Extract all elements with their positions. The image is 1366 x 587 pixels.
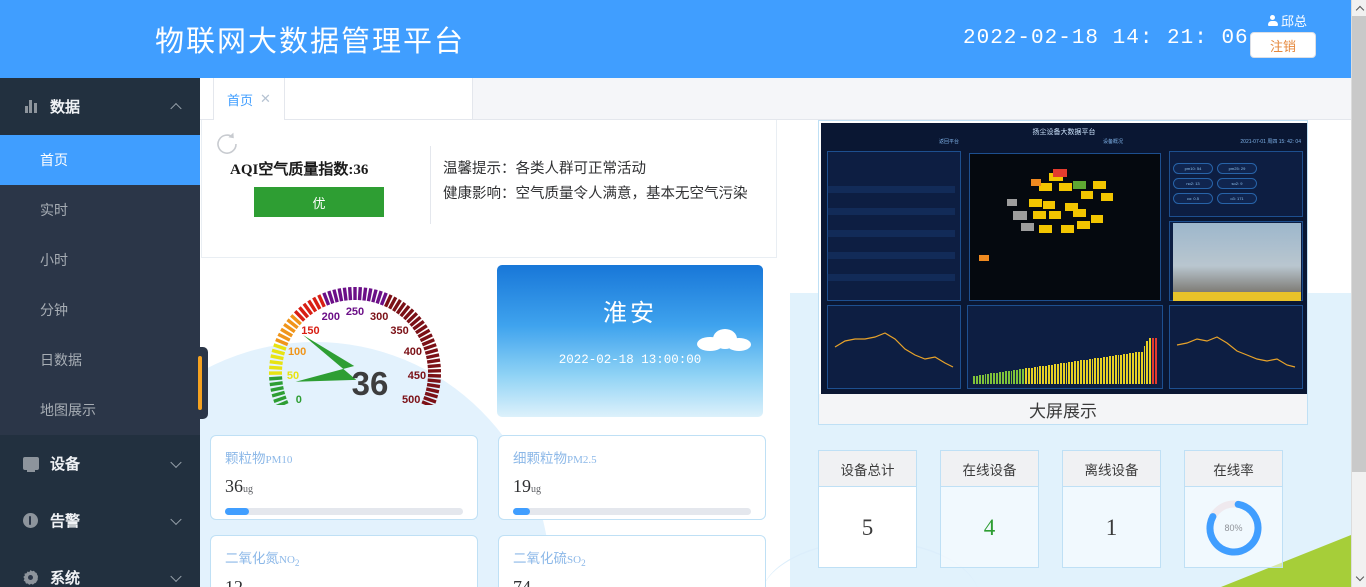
pollutant-name: 颗粒物 [225,451,266,466]
sidebar-group-label: 告警 [50,510,80,531]
pollutant-progress-bar [513,508,751,515]
header-datetime: 2022-02-18 14: 21: 06 [963,27,1249,50]
sidebar-collapse-handle[interactable] [192,347,208,419]
stat-label: 在线率 [1185,451,1282,487]
sidebar-group-label: 设备 [50,453,80,474]
pollutant-name: 二氧化氮 [225,551,279,566]
stat-value: 4 [984,515,996,541]
svg-text:300: 300 [370,311,388,323]
stat-body: 80% [1185,487,1282,568]
sidebar-item-realtime[interactable]: 实时 [0,185,200,235]
pollutant-formula: SO [567,554,581,566]
bigscreen-caption: 大屏展示 [819,394,1307,424]
user-name: 邱总 [1281,11,1307,30]
sidebar: 数据 首页 实时 小时 分钟 日数据 地图展示 设备 告警 系统 [0,78,200,587]
online-rate-donut-chart: 80% [1203,497,1265,559]
sidebar-group-device[interactable]: 设备 [0,435,200,492]
pollutant-formula: PM2.5 [567,454,597,466]
preview-line-chart-right [1173,319,1299,383]
pollutant-card-pm10[interactable]: 颗粒物PM10 36ug [210,435,478,520]
city-weather-card[interactable]: 淮安 2022-02-18 13:00:00 [497,265,763,417]
stat-body: 1 [1063,487,1160,568]
bar-chart-icon [22,100,39,113]
stat-card-online-rate[interactable]: 在线率 80% [1184,450,1283,568]
svg-text:150: 150 [301,325,319,337]
tab-home[interactable]: 首页 ✕ [213,78,285,120]
logout-button[interactable]: 注销 [1250,32,1316,58]
stat-body: 4 [941,487,1038,568]
pollutant-unit: ug [243,484,253,495]
pollutant-label: 颗粒物PM10 [225,447,463,467]
gear-icon [22,570,39,585]
sidebar-group-alarm[interactable]: 告警 [0,492,200,549]
pollutant-subscript: 2 [581,558,586,568]
bigscreen-panel[interactable]: 扬尘设备大数据平台 返回平台 设备概况 2021-07-01 周四 15: 42… [818,120,1308,425]
sidebar-group-label: 数据 [50,96,80,117]
pollutant-label: 二氧化氮NO2 [225,547,463,568]
divider [430,146,431,224]
pollutant-value: 36 [225,476,243,496]
left-column: AQI空气质量指数:36 优 温馨提示：各类人群可正常活动 健康影响：空气质量令… [200,120,778,587]
pollutant-value-row: 19ug [513,476,751,497]
svg-text:50: 50 [287,370,299,382]
svg-text:100: 100 [288,346,306,358]
preview-line-chart-left [831,319,957,383]
city-timestamp: 2022-02-18 13:00:00 [497,353,763,367]
preview-nav-left: 返回平台 [939,138,959,145]
svg-text:0: 0 [296,394,302,405]
tab-label: 首页 [227,90,253,109]
sidebar-group-data[interactable]: 数据 [0,78,200,135]
gauge-value: 36 [325,365,415,403]
sidebar-item-hourly[interactable]: 小时 [0,235,200,285]
sidebar-item-map[interactable]: 地图展示 [0,385,200,435]
stat-label: 在线设备 [941,451,1038,487]
sidebar-item-daily[interactable]: 日数据 [0,335,200,385]
preview-bar-chart [973,336,1157,384]
pollutant-value-row: 74ug [513,577,751,587]
stat-card-online-devices[interactable]: 在线设备 4 [940,450,1039,568]
pollutant-subscript: 2 [295,558,300,568]
aqi-tip-line: 温馨提示：各类人群可正常活动 [443,157,769,182]
close-icon[interactable]: ✕ [260,91,271,107]
scrollbar-thumb[interactable] [1352,16,1366,472]
pollutant-value: 19 [513,476,531,496]
sidebar-group-label: 系统 [50,567,80,587]
pollutant-card-pm25[interactable]: 细颗粒物PM2.5 19ug [498,435,766,520]
chevron-down-icon [170,570,181,581]
pollutant-formula: PM10 [266,454,293,466]
pollutant-value-row: 12ug [225,577,463,587]
chevron-up-icon [170,102,181,113]
aqi-gauge-chart: 050100150200250300350400450500 36 [230,265,480,405]
scroll-up-arrow-icon[interactable] [1352,0,1366,16]
user-icon [1267,15,1279,27]
pollutant-value: 74 [513,577,531,587]
scroll-down-arrow-icon[interactable] [1352,571,1366,587]
aqi-title: AQI空气质量指数:36 [230,158,368,179]
stat-label: 离线设备 [1063,451,1160,487]
chevron-down-icon [170,513,181,524]
preview-nav-right: 设备概况 [1103,138,1123,145]
user-info: 邱总 [1267,11,1307,30]
bigscreen-preview-image: 扬尘设备大数据平台 返回平台 设备概况 2021-07-01 周四 15: 42… [821,123,1307,394]
stat-card-offline-devices[interactable]: 离线设备 1 [1062,450,1161,568]
monitor-icon [22,457,39,470]
pollutant-label: 细颗粒物PM2.5 [513,447,751,467]
pollutant-label: 二氧化硫SO2 [513,547,751,568]
aqi-level-badge: 优 [254,187,384,217]
pollutant-name: 二氧化硫 [513,551,567,566]
city-name: 淮安 [497,293,763,328]
tab-bar: 首页 ✕ [200,78,1351,120]
svg-text:350: 350 [390,325,408,337]
cloud-icon [693,327,755,351]
tab-bar-empty-area [472,78,1351,119]
preview-title: 扬尘设备大数据平台 [821,127,1307,137]
pollutant-value: 12 [225,577,243,587]
stat-value: 1 [1106,515,1118,541]
app-header: 物联网大数据管理平台 2022-02-18 14: 21: 06 邱总 注销 [0,0,1351,78]
online-rate-value: 80% [1203,523,1265,533]
pollutant-name: 细颗粒物 [513,451,567,466]
pollutant-card-no2[interactable]: 二氧化氮NO2 12ug [210,535,478,587]
pollutant-progress-bar [225,508,463,515]
chevron-down-icon [170,456,181,467]
preview-camera-photo [1173,223,1301,301]
stat-value: 5 [862,515,874,541]
aqi-advice: 温馨提示：各类人群可正常活动 健康影响：空气质量令人满意，基本无空气污染 [443,157,769,207]
aqi-summary-panel: AQI空气质量指数:36 优 温馨提示：各类人群可正常活动 健康影响：空气质量令… [201,120,777,258]
aqi-health-line: 健康影响：空气质量令人满意，基本无空气污染 [443,182,769,207]
refresh-icon[interactable] [213,130,241,158]
svg-text:400: 400 [404,346,422,358]
svg-text:250: 250 [346,306,364,318]
main-content: AQI空气质量指数:36 优 温馨提示：各类人群可正常活动 健康影响：空气质量令… [200,120,1351,587]
pollutant-unit: ug [531,484,541,495]
svg-text:200: 200 [322,311,340,323]
vertical-scrollbar[interactable] [1351,0,1366,587]
sidebar-group-system[interactable]: 系统 [0,549,200,587]
right-column: 扬尘设备大数据平台 返回平台 设备概况 2021-07-01 周四 15: 42… [808,120,1351,587]
sidebar-item-home[interactable]: 首页 [0,135,200,185]
pollutant-value-row: 36ug [225,476,463,497]
page-title: 物联网大数据管理平台 [155,18,465,60]
application-root: 物联网大数据管理平台 2022-02-18 14: 21: 06 邱总 注销 数… [0,0,1366,587]
stat-card-total-devices[interactable]: 设备总计 5 [818,450,917,568]
pollutant-card-so2[interactable]: 二氧化硫SO2 74ug [498,535,766,587]
sidebar-item-minute[interactable]: 分钟 [0,285,200,335]
preview-time: 2021-07-01 周四 15: 42: 04 [1240,138,1301,145]
alert-icon [22,513,39,528]
pollutant-formula: NO [279,554,295,566]
device-stat-strip: 设备总计 5 在线设备 4 离线设备 1 [818,450,1318,580]
stat-body: 5 [819,487,916,568]
stat-label: 设备总计 [819,451,916,487]
